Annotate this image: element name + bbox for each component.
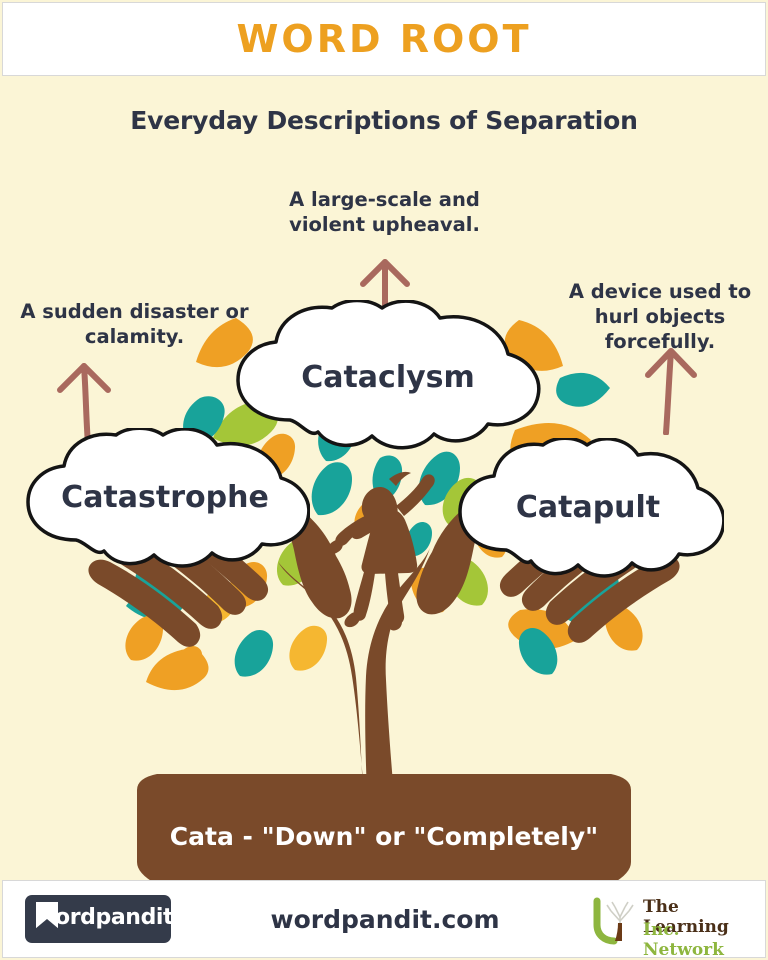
cloud-catastrophe[interactable]: Catastrophe (20, 428, 310, 576)
learning-tree-icon (589, 895, 639, 945)
cloud-shape (20, 428, 310, 576)
cloud-catapult[interactable]: Catapult (452, 438, 724, 586)
callout-catapult: A device used to hurl objects forcefully… (556, 280, 764, 355)
infographic-page: WORD ROOT Everyday Descriptions of Separ… (0, 0, 768, 960)
arrow-up-icon-right (640, 345, 702, 435)
learning-inc-network-logo[interactable]: The Learning Inc. Network (589, 893, 753, 947)
callout-cataclysm: A large-scale and violent upheaval. (252, 188, 517, 238)
footer-bar: ordpandit wordpandit.com The Learning In… (2, 880, 766, 958)
cloud-shape (452, 438, 724, 586)
learning-network-line2: Inc. Network (643, 920, 753, 960)
